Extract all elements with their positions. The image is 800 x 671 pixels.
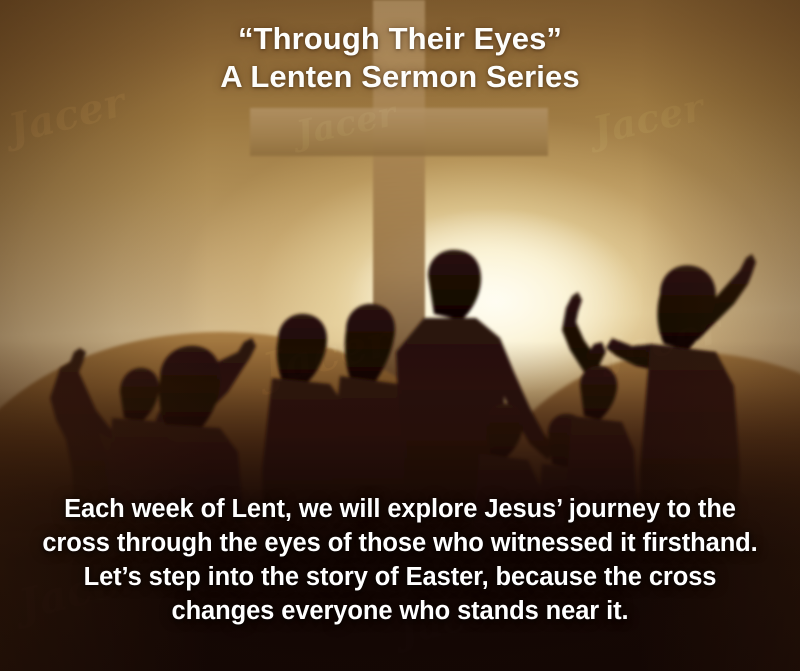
- body-line-2: cross through the eyes of those who witn…: [14, 526, 786, 560]
- body-line-3: Let’s step into the story of Easter, bec…: [14, 560, 786, 594]
- poster-body-text: Each week of Lent, we will explore Jesus…: [0, 492, 800, 628]
- title-line-1: “Through Their Eyes”: [0, 20, 800, 58]
- poster-title: “Through Their Eyes” A Lenten Sermon Ser…: [0, 20, 800, 96]
- sermon-series-poster: JacerJacerJacerJacerJacerJacerJacer “Thr…: [0, 0, 800, 671]
- title-line-2: A Lenten Sermon Series: [0, 58, 800, 96]
- body-line-4: changes everyone who stands near it.: [14, 594, 786, 628]
- body-line-1: Each week of Lent, we will explore Jesus…: [14, 492, 786, 526]
